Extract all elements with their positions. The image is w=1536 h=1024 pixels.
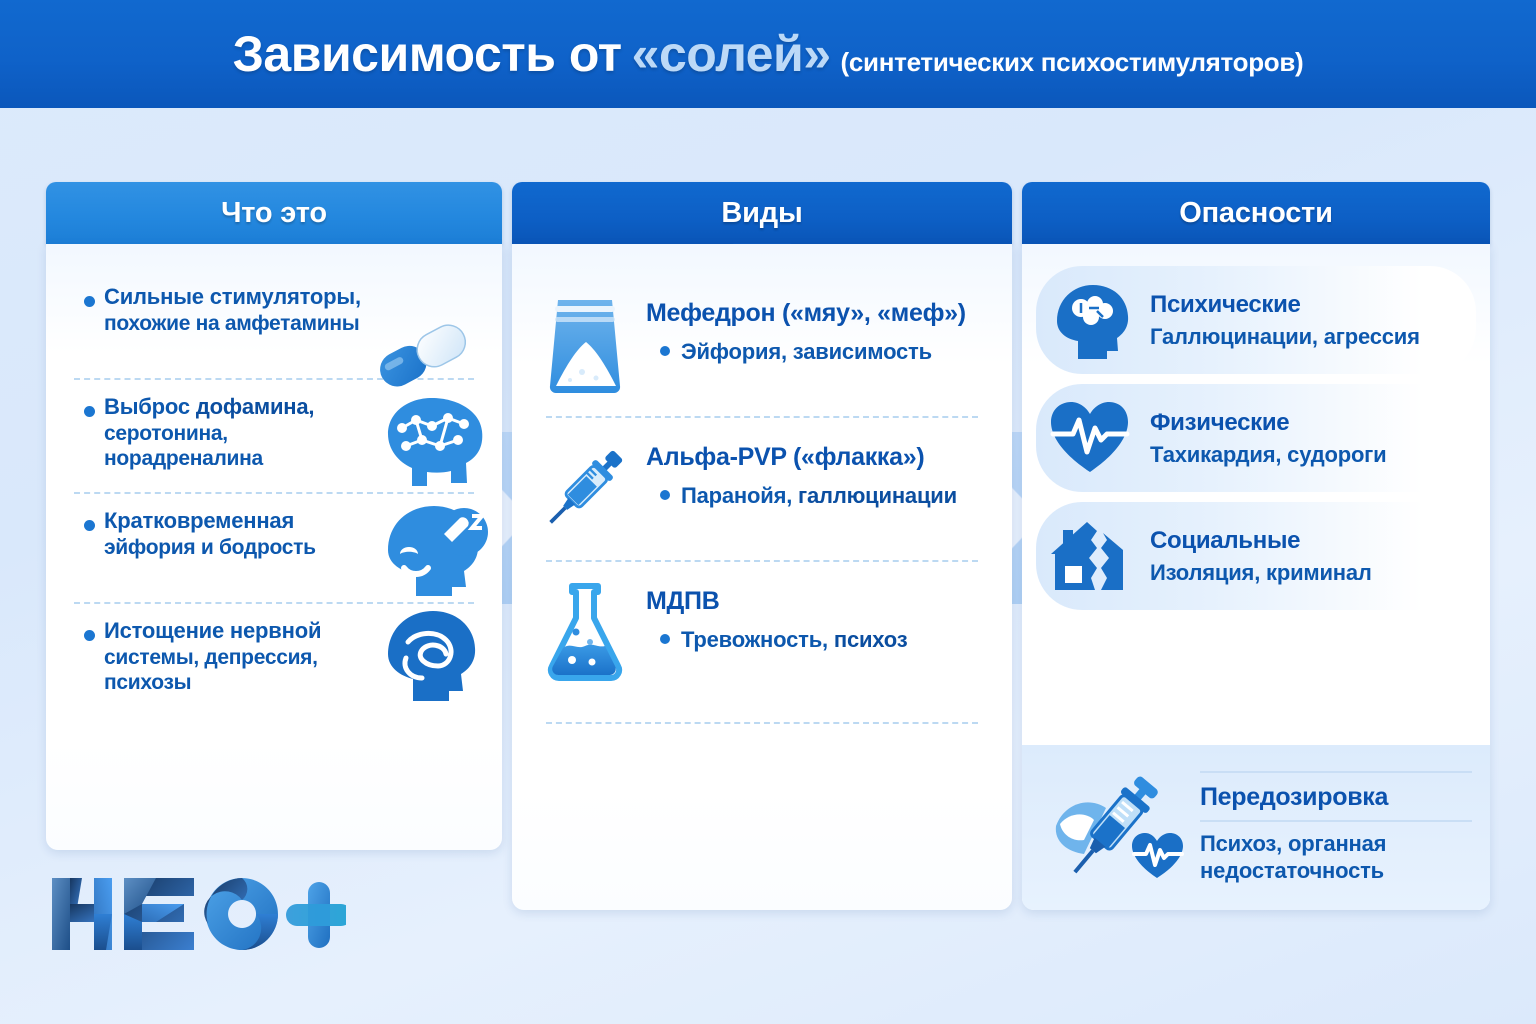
list-item[interactable]: Мефедрон («мяу», «меф») Эйфория, зависим… bbox=[512, 278, 1012, 412]
item-line1: Истощение нервной bbox=[104, 618, 390, 645]
danger-sub: Изоляция, криминал bbox=[1150, 560, 1462, 586]
head-tangled-mind-icon bbox=[370, 606, 494, 723]
bullet-dot-icon bbox=[84, 406, 95, 417]
column-body-dangers: Психические Галлюцинации, агрессия Физич… bbox=[1022, 244, 1490, 910]
item-separator bbox=[546, 416, 978, 418]
column-header-label: Что это bbox=[221, 197, 327, 230]
page-subtitle: (синтетических психостимуляторов) bbox=[841, 47, 1304, 78]
item-line1: Кратковременная bbox=[104, 508, 390, 535]
column-body-what-is-it: Сильные стимуляторы, похожие на амфетами… bbox=[46, 244, 502, 850]
neo-plus-logo[interactable] bbox=[46, 868, 346, 960]
type-bullet-text: Паранойя, галлюцинации bbox=[681, 483, 957, 509]
column-header-dangers: Опасности bbox=[1022, 182, 1490, 244]
column-types: Виды bbox=[512, 182, 1012, 910]
type-title: Альфа-PVP («флакка») bbox=[646, 442, 984, 472]
syringe-icon bbox=[542, 428, 628, 542]
column-body-types: Мефедрон («мяу», «меф») Эйфория, зависим… bbox=[512, 244, 1012, 910]
bullet-dot-icon bbox=[660, 490, 670, 500]
list-item[interactable]: Физические Тахикардия, судороги bbox=[1036, 384, 1476, 492]
danger-title: Психические bbox=[1150, 291, 1462, 319]
overdose-sub-line2: недостаточность bbox=[1200, 857, 1472, 884]
heart-pulse-icon bbox=[1046, 394, 1134, 482]
column-header-what-is-it: Что это bbox=[46, 182, 502, 244]
danger-sub: Тахикардия, судороги bbox=[1150, 442, 1462, 468]
bullet-dot-icon bbox=[660, 346, 670, 356]
list-item[interactable]: Альфа-PVP («флакка») Паранойя, галлюцина… bbox=[512, 422, 1012, 556]
head-brain-icon bbox=[1046, 276, 1134, 364]
type-bullet-text: Тревожность, психоз bbox=[681, 627, 907, 653]
head-euphoria-icon bbox=[368, 498, 496, 615]
column-header-types: Виды bbox=[512, 182, 1012, 244]
item-line2: серотонина, норадреналина bbox=[104, 421, 390, 472]
item-line2: эйфория и бодрость bbox=[104, 535, 390, 561]
list-item[interactable]: Выброс дофамина, серотонина, норадренали… bbox=[46, 380, 502, 492]
column-what-is-it: Что это Сильные стимуляторы, похожие на … bbox=[46, 182, 502, 850]
type-bullet: Тревожность, психоз bbox=[646, 627, 984, 653]
column-header-label: Виды bbox=[721, 197, 802, 230]
flask-icon bbox=[542, 572, 628, 686]
page-banner: Зависимость от «солей» (синтетических пс… bbox=[0, 0, 1536, 108]
overdose-title: Передозировка bbox=[1200, 783, 1472, 812]
overdose-sub-line1: Психоз, органная bbox=[1200, 830, 1472, 857]
list-item[interactable]: Социальные Изоляция, криминал bbox=[1036, 502, 1476, 610]
bullet-dot-icon bbox=[84, 296, 95, 307]
danger-title: Социальные bbox=[1150, 527, 1462, 555]
overdose-divider-top bbox=[1200, 771, 1472, 773]
type-title: МДПВ bbox=[646, 586, 984, 616]
item-line2: системы, депрессия, психозы bbox=[104, 645, 390, 696]
overdose-block[interactable]: Передозировка Психоз, органная недостато… bbox=[1022, 745, 1490, 910]
item-line1: Сильные стимуляторы, bbox=[104, 284, 390, 311]
bullet-dot-icon bbox=[660, 634, 670, 644]
page-title-main: Зависимость от bbox=[233, 25, 622, 83]
item-line2: похожие на амфетамины bbox=[104, 311, 390, 337]
bullet-dot-icon bbox=[84, 520, 95, 531]
list-item[interactable]: Психические Галлюцинации, агрессия bbox=[1036, 266, 1476, 374]
list-item[interactable]: Кратковременная эйфория и бодрость bbox=[46, 494, 502, 602]
broken-house-icon bbox=[1046, 512, 1134, 600]
column-header-label: Опасности bbox=[1179, 197, 1333, 230]
item-separator bbox=[546, 722, 978, 724]
list-item[interactable]: МДПВ Тревожность, психоз bbox=[512, 566, 1012, 700]
list-item[interactable]: Сильные стимуляторы, похожие на амфетами… bbox=[46, 270, 502, 378]
type-bullet: Эйфория, зависимость bbox=[646, 339, 984, 365]
type-bullet-text: Эйфория, зависимость bbox=[681, 339, 932, 365]
overdose-divider-bottom bbox=[1200, 820, 1472, 822]
page-title-quoted: «солей» bbox=[632, 25, 831, 83]
type-bullet: Паранойя, галлюцинации bbox=[646, 483, 984, 509]
danger-title: Физические bbox=[1150, 409, 1462, 437]
item-separator bbox=[546, 560, 978, 562]
brain-network-icon bbox=[370, 388, 498, 497]
powder-bag-icon bbox=[542, 284, 628, 398]
item-line1: Выброс дофамина, bbox=[104, 394, 390, 421]
bullet-dot-icon bbox=[84, 630, 95, 641]
danger-sub: Галлюцинации, агрессия bbox=[1150, 324, 1462, 350]
type-title: Мефедрон («мяу», «меф») bbox=[646, 298, 984, 328]
column-dangers: Опасности bbox=[1022, 182, 1490, 910]
syringe-overdose-icon bbox=[1044, 768, 1194, 888]
list-item[interactable]: Истощение нервной системы, депрессия, пс… bbox=[46, 604, 502, 716]
